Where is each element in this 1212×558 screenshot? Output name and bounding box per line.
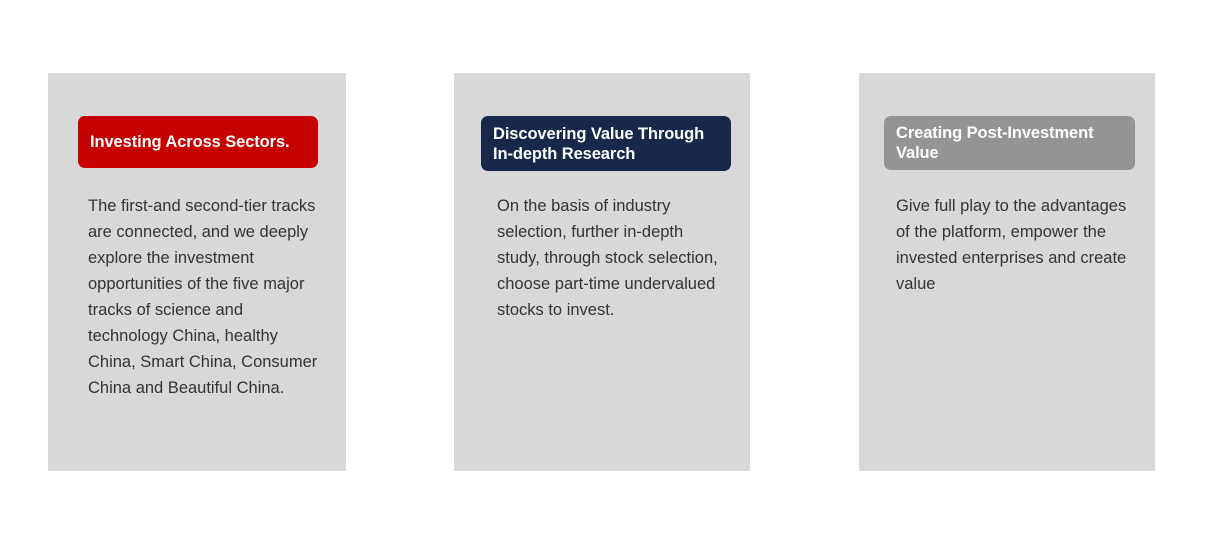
card-badge-title: Creating Post-Investment Value xyxy=(896,123,1123,163)
feature-card-creating-post-investment-value: Creating Post-Investment Value Give full… xyxy=(859,73,1155,471)
card-badge-discovering-value: Discovering Value Through In-depth Resea… xyxy=(481,116,731,171)
card-badge-title: Investing Across Sectors. xyxy=(90,132,290,152)
feature-card-investing-across-sectors: Investing Across Sectors. The first-and … xyxy=(48,73,346,471)
card-badge-title: Discovering Value Through In-depth Resea… xyxy=(493,124,719,164)
feature-cards-row: Investing Across Sectors. The first-and … xyxy=(0,0,1212,558)
card-body-text: On the basis of industry selection, furt… xyxy=(497,193,719,323)
card-body-text: Give full play to the advantages of the … xyxy=(896,193,1136,297)
card-badge-investing-across-sectors: Investing Across Sectors. xyxy=(78,116,318,168)
card-badge-creating-post-investment-value: Creating Post-Investment Value xyxy=(884,116,1135,170)
card-body-text: The first-and second-tier tracks are con… xyxy=(88,193,324,401)
feature-card-discovering-value: Discovering Value Through In-depth Resea… xyxy=(454,73,750,471)
